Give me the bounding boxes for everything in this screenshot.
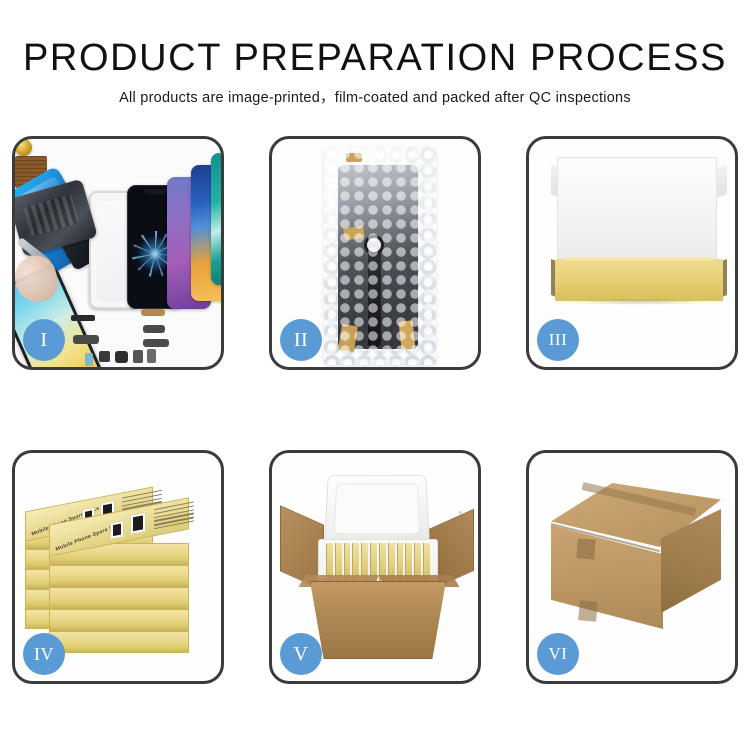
stacked-box: [49, 609, 189, 631]
flex-cable-icon: [143, 325, 165, 333]
earpiece-speaker-icon: [71, 315, 95, 321]
step-panel-stacked-inner-boxes: Mobile Phone Spare Parts: [12, 450, 224, 684]
phone-notch-icon: [144, 189, 166, 194]
camera-module-icon: [99, 351, 110, 362]
tape-strip-icon: [399, 320, 416, 349]
stacked-box: [49, 587, 189, 609]
product-preparation-infographic: PRODUCT PREPARATION PROCESS All products…: [0, 0, 750, 750]
drop-shadow: [559, 299, 719, 305]
flex-cable-icon: [73, 335, 99, 344]
sim-tray-icon: [85, 353, 93, 366]
flex-cable-icon: [143, 339, 169, 347]
stacked-box: [49, 631, 189, 653]
connector-ring-icon: [364, 235, 384, 255]
foam-lid-icon: [324, 475, 430, 544]
taptic-engine-icon: [115, 351, 128, 363]
page-title: PRODUCT PREPARATION PROCESS: [0, 36, 750, 80]
small-component-icon: [133, 350, 143, 363]
step-panel-carton-with-foam: V: [269, 450, 481, 684]
header: PRODUCT PREPARATION PROCESS All products…: [0, 0, 750, 108]
process-step-grid: I II: [12, 136, 738, 684]
carton-hand-hole-icon: [576, 538, 596, 559]
carton-hand-hole-icon: [578, 600, 598, 621]
step-panel-open-box-with-wrap: III: [526, 136, 738, 370]
step-panel-phone-screens-and-parts: I: [12, 136, 224, 370]
yellow-box-base-icon: [555, 259, 723, 301]
step-badge: IV: [23, 633, 65, 675]
flex-cable-icon: [368, 243, 381, 347]
step-badge: VI: [537, 633, 579, 675]
product-swatch: [130, 512, 146, 535]
stacked-box: [49, 565, 189, 587]
carton-body-icon: [310, 581, 446, 659]
vibration-motor-icon: [15, 139, 32, 156]
step-panel-sealed-carton: VI: [526, 450, 738, 684]
gold-flex-cable-icon: [141, 309, 165, 316]
step-badge: II: [280, 319, 322, 361]
product-swatch: [110, 520, 124, 540]
step-badge: I: [23, 319, 65, 361]
small-component-icon: [147, 349, 156, 363]
page-subtitle: All products are image-printed，film-coat…: [0, 88, 750, 108]
tape-strip-icon: [346, 153, 362, 162]
white-box-lid-icon: [557, 157, 717, 273]
teal-phone-icon: [211, 153, 221, 285]
step-panel-bubble-wrapped-part: II: [269, 136, 481, 370]
step-badge: V: [280, 633, 322, 675]
step-badge: III: [537, 319, 579, 361]
